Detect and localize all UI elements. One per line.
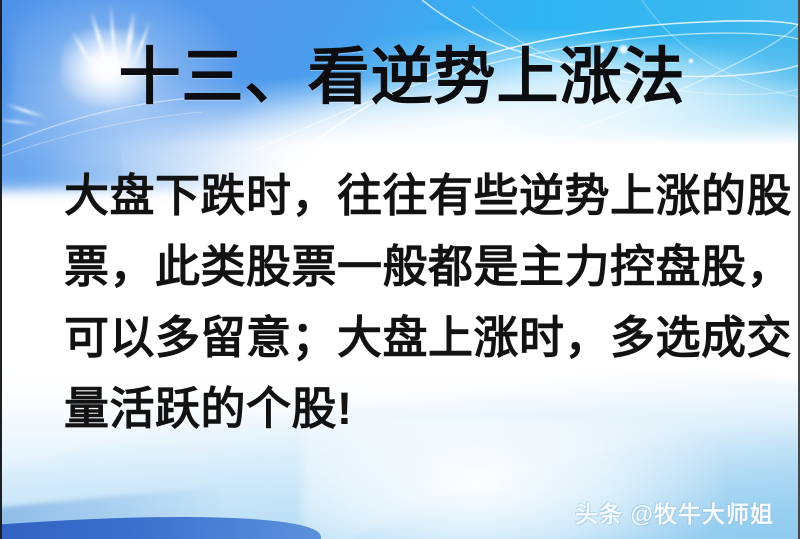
slide-title: 十三、看逆势上涨法 xyxy=(2,46,800,111)
bottom-left-corner-accent xyxy=(0,496,325,539)
body-line: 票，此类股票一般都是主力控盘股， xyxy=(64,231,764,302)
bottom-left-corner-soft xyxy=(0,486,225,539)
slide-body: 大盘下跌时，往往有些逆势上涨的股 票，此类股票一般都是主力控盘股， 可以多留意；… xyxy=(64,160,764,444)
body-line: 可以多留意；大盘上涨时，多选成交 xyxy=(64,302,764,373)
body-line: 量活跃的个股! xyxy=(64,373,764,444)
body-line: 大盘下跌时，往往有些逆势上涨的股 xyxy=(64,160,764,231)
slide-canvas: 十三、看逆势上涨法 大盘下跌时，往往有些逆势上涨的股 票，此类股票一般都是主力控… xyxy=(0,0,800,539)
light-burst-ray xyxy=(0,119,37,125)
watermark-credit: 头条 @牧牛大师姐 xyxy=(575,495,774,529)
